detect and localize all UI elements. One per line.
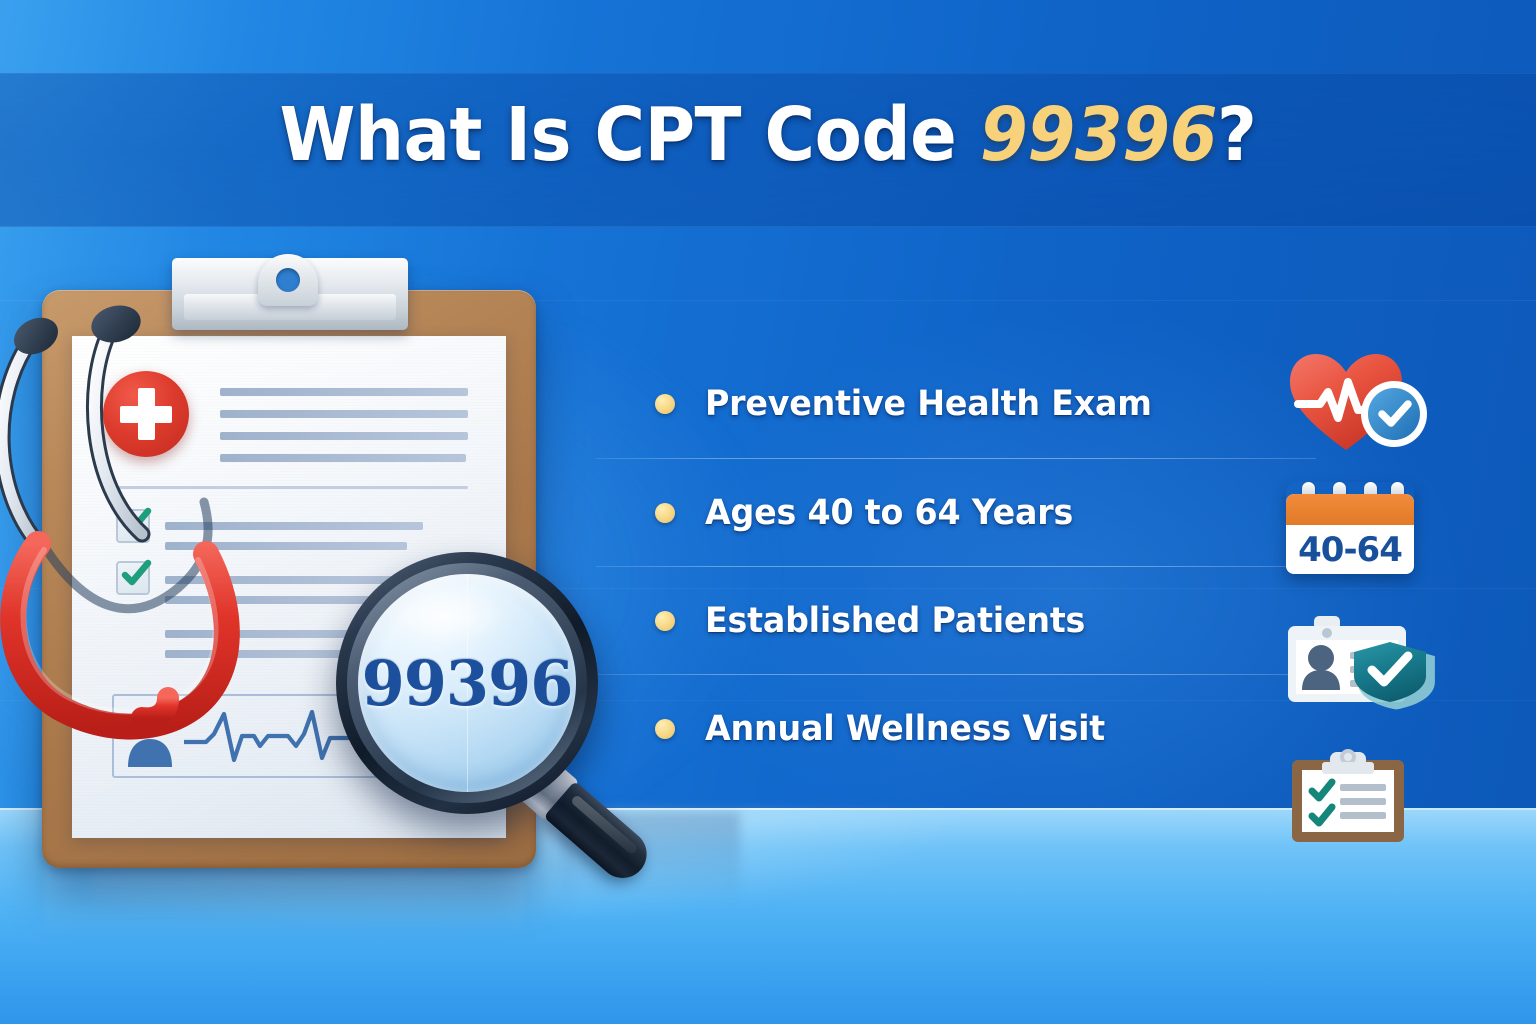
id-card-shield-icon <box>1286 614 1438 710</box>
icon-slot-heart <box>1286 352 1450 464</box>
calendar-age-range-value: 40-64 <box>1286 526 1414 574</box>
icon-slot-idcard <box>1286 612 1450 724</box>
blue-check-badge-icon <box>1368 388 1420 440</box>
page-title: What Is CPT Code 99396? <box>54 92 1482 178</box>
list-item-label: Established Patients <box>705 601 1085 641</box>
infographic-canvas: What Is CPT Code 99396? <box>0 0 1536 1024</box>
clipboard-checklist-icon <box>1286 748 1410 844</box>
calendar-body: 40-64 <box>1286 494 1414 574</box>
list-item-label: Ages 40 to 64 Years <box>705 493 1073 533</box>
list-item-label: Annual Wellness Visit <box>705 709 1105 749</box>
heart-pulse-check-icon <box>1286 352 1436 454</box>
icon-slot-calendar: 40-64 <box>1286 482 1450 594</box>
magnifier-grip <box>543 781 656 888</box>
list-item-label: Preventive Health Exam <box>705 384 1152 424</box>
bullet-dot-icon <box>655 394 675 414</box>
list-item[interactable]: Preventive Health Exam <box>596 350 1316 458</box>
page-title-prefix: What Is CPT Code <box>280 92 980 178</box>
magnifier-illustration: 99396 <box>330 548 730 908</box>
icon-slot-checklist <box>1286 742 1450 854</box>
bullet-dot-icon <box>655 503 675 523</box>
calendar-age-range-icon: 40-64 <box>1286 482 1414 574</box>
person-avatar-icon <box>1308 645 1334 671</box>
stethoscope-icon <box>0 288 312 758</box>
icon-column: 40-64 <box>1286 352 1450 872</box>
page-title-code: 99396 <box>980 92 1217 178</box>
magnifier-lens-icon: 99396 <box>358 574 576 792</box>
page-title-suffix: ? <box>1217 92 1256 178</box>
calendar-header <box>1286 494 1414 525</box>
cpt-code-value: 99396 <box>362 647 573 720</box>
